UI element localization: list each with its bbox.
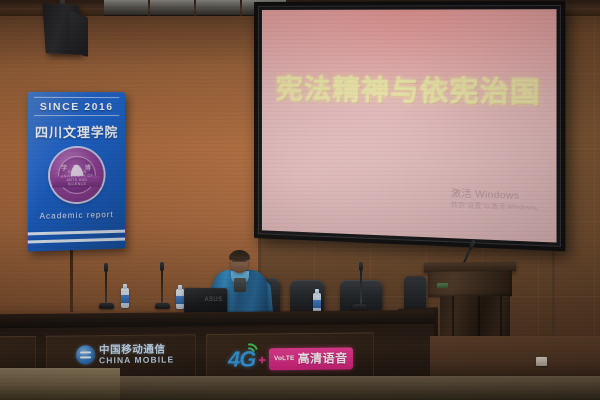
fourg-volte-signage: 4G + VoLTE 高清语音 bbox=[228, 347, 353, 370]
lecture-hall-photo: 宪法精神与依宪治国 激活 Windows 转到"设置"以激活 Windows。 … bbox=[0, 0, 600, 400]
bottle-label bbox=[313, 300, 321, 308]
volte-label: VoLTE bbox=[274, 355, 295, 362]
china-mobile-label-en: CHINA MOBILE bbox=[99, 356, 174, 366]
chair bbox=[404, 276, 426, 312]
microphone-base bbox=[352, 304, 367, 310]
presenter-shirt bbox=[234, 278, 246, 292]
water-bottle bbox=[121, 288, 129, 308]
presentation-slide: 宪法精神与依宪治国 激活 Windows 转到"设置"以激活 Windows。 bbox=[262, 9, 557, 242]
banner-stand-pole bbox=[70, 246, 73, 312]
academic-report-banner[interactable]: SINCE 2016 四川文理学院 学 艺 博 志 SICHUAN UNIVER… bbox=[28, 92, 125, 252]
china-mobile-wordmark: 中国移动通信 CHINA MOBILE bbox=[99, 344, 174, 365]
banner-footer-text: Academic report bbox=[28, 210, 125, 221]
wall-outlet-icon bbox=[536, 357, 547, 366]
emblem-ribbon-text: SICHUAN UNIVERSITY OF ARTS AND SCIENCE bbox=[58, 170, 96, 187]
wall-speaker-face bbox=[70, 11, 88, 58]
banner-stripe bbox=[28, 238, 125, 244]
screen-bezel: 宪法精神与依宪治国 激活 Windows 转到"设置"以激活 Windows。 bbox=[258, 5, 561, 247]
projection-screen[interactable]: 宪法精神与依宪治国 激活 Windows 转到"设置"以激活 Windows。 bbox=[254, 1, 565, 252]
ceiling-slat bbox=[150, 0, 194, 15]
watermark-line-2: 转到"设置"以激活 Windows。 bbox=[451, 202, 543, 214]
floor-left-foreground bbox=[0, 368, 120, 400]
windows-activation-watermark: 激活 Windows 转到"设置"以激活 Windows。 bbox=[451, 189, 543, 215]
emblem-inner-disc: 学 艺 博 志 SICHUAN UNIVERSITY OF ARTS AND S… bbox=[58, 156, 96, 195]
microphone-stem bbox=[105, 271, 107, 303]
bottle-label bbox=[176, 296, 184, 304]
ceiling-slat bbox=[196, 0, 240, 15]
volte-label-cn: 高清语音 bbox=[298, 349, 348, 367]
slide-title-text: 宪法精神与依宪治国 bbox=[262, 67, 557, 111]
fourg-plus-label: + bbox=[258, 353, 266, 366]
presenter-glasses-icon bbox=[232, 261, 247, 266]
podium-nameplate bbox=[437, 283, 448, 288]
presenter-hair bbox=[229, 250, 250, 261]
banner-stripe bbox=[28, 230, 125, 236]
bottle-label bbox=[121, 295, 129, 303]
ceiling-slat bbox=[104, 0, 148, 15]
microphone-base bbox=[155, 303, 170, 309]
banner-since-text: SINCE 2016 bbox=[28, 101, 125, 113]
microphone-base bbox=[99, 303, 114, 309]
banner-institution-name: 四川文理学院 bbox=[28, 122, 125, 141]
lower-right-wall bbox=[430, 336, 600, 380]
university-emblem-icon: 学 艺 博 志 SICHUAN UNIVERSITY OF ARTS AND S… bbox=[50, 148, 104, 203]
volte-badge: VoLTE 高清语音 bbox=[269, 347, 353, 370]
china-mobile-logo: 中国移动通信 CHINA MOBILE bbox=[76, 344, 174, 365]
microphone-stem bbox=[161, 270, 163, 303]
water-bottle bbox=[176, 289, 184, 309]
china-mobile-mark-icon bbox=[76, 346, 95, 365]
fourg-label: 4G bbox=[228, 348, 255, 370]
laptop-brand-mark: ASUS bbox=[205, 297, 223, 303]
microphone-stem bbox=[360, 270, 362, 304]
